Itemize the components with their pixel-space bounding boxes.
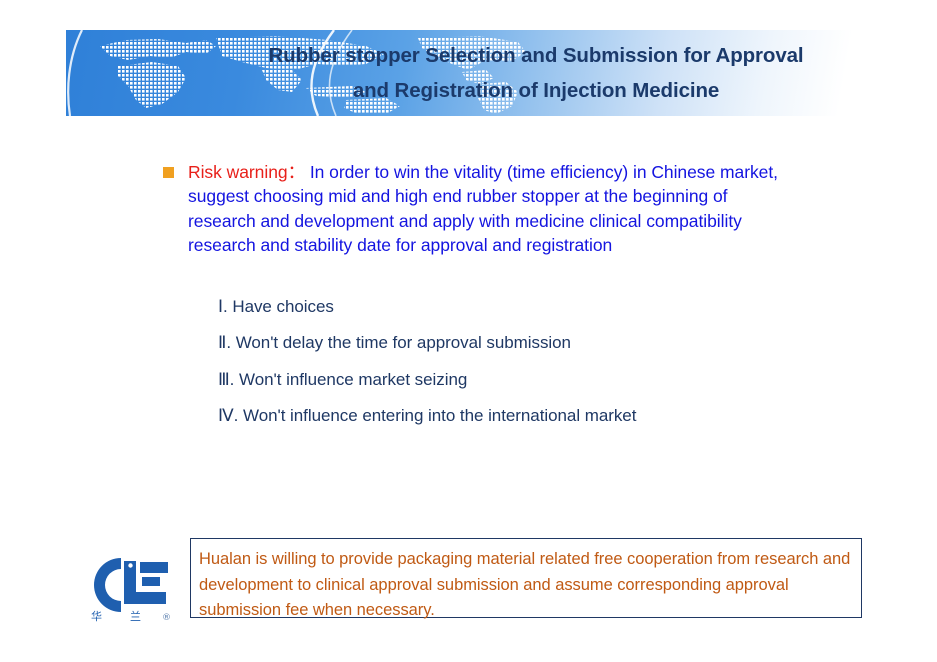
page-title-line2: and Registration of Injection Medicine (216, 73, 856, 108)
page-title-line1: Rubber stopper Selection and Submission … (268, 44, 803, 67)
list-item-label: Won't influence entering into the intern… (243, 406, 636, 425)
risk-warning-text: Risk warning： In order to win the vitali… (188, 160, 783, 258)
list-item: Ⅰ. Have choices (218, 296, 858, 332)
orange-square-bullet-icon (163, 167, 174, 178)
list-item: Ⅳ. Won't influence entering into the int… (218, 405, 858, 441)
registered-mark: ® (162, 613, 171, 623)
header-banner: Rubber stopper Selection and Submission … (66, 30, 871, 116)
roman-numeral-list: Ⅰ. Have choices Ⅱ. Won't delay the time … (218, 296, 858, 442)
list-item-label: Have choices (232, 297, 333, 316)
list-item-numeral: Ⅳ (218, 405, 234, 427)
list-item: Ⅱ. Won't delay the time for approval sub… (218, 332, 858, 368)
slide-canvas: Rubber stopper Selection and Submission … (0, 0, 937, 662)
risk-warning-separator: ： (288, 162, 305, 182)
list-item-numeral: Ⅲ (218, 369, 230, 391)
risk-warning-label: Risk warning (188, 162, 288, 182)
list-item-label: Won't influence market seizing (239, 370, 467, 389)
list-item: Ⅲ. Won't influence market seizing (218, 369, 858, 405)
risk-warning-block: Risk warning： In order to win the vitali… (163, 160, 783, 258)
svg-text:兰: 兰 (130, 610, 141, 623)
callout-text: Hualan is willing to provide packaging m… (191, 539, 861, 624)
callout-box: Hualan is willing to provide packaging m… (190, 538, 862, 618)
list-item-separator: . (234, 406, 239, 425)
logo-characters: 华 (91, 609, 102, 623)
list-item-separator: . (226, 333, 231, 352)
page-title: Rubber stopper Selection and Submission … (216, 38, 856, 108)
list-item-label: Won't delay the time for approval submis… (236, 333, 571, 352)
hualan-logo: 华 兰 ® (80, 552, 180, 624)
list-item-separator: . (223, 297, 228, 316)
list-item-separator: . (230, 370, 235, 389)
